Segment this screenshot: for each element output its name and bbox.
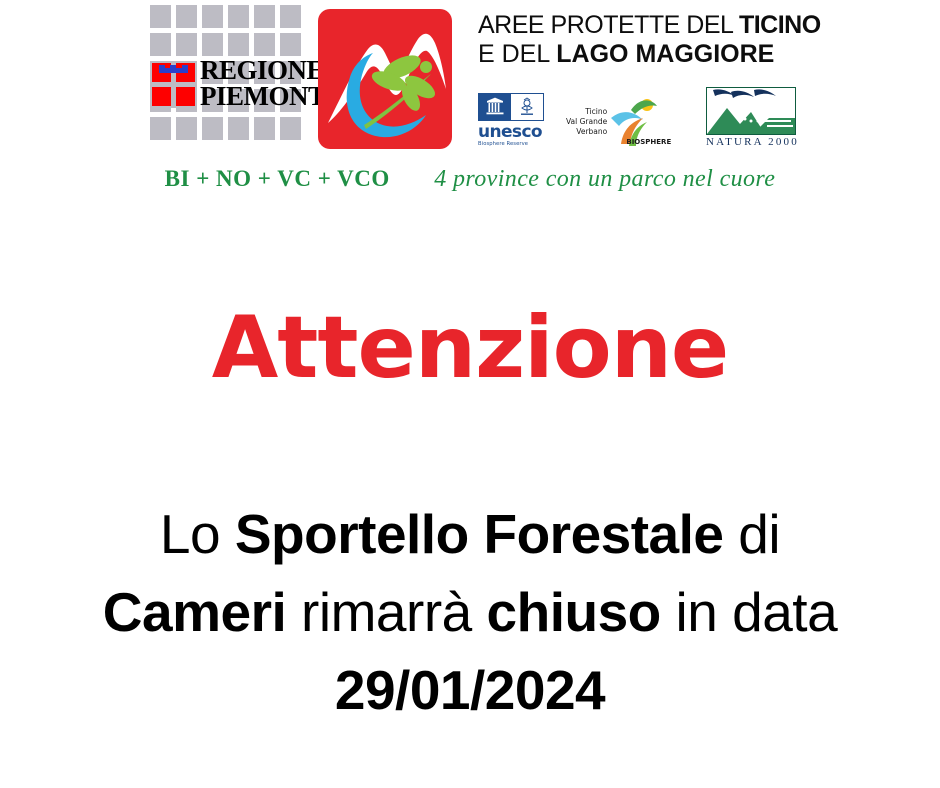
unesco-subtitle: Biosphere Reserve	[478, 141, 546, 148]
unesco-emblem-boxes	[478, 93, 544, 121]
certification-logos: unesco Biosphere Reserve Ticino Val Gran…	[478, 87, 821, 148]
biosphere-region-names: Ticino Val Grande Verbano	[566, 107, 607, 137]
aree-protette-title-line-1: AREE PROTETTE DEL TICINO	[478, 11, 821, 40]
page-title-attenzione: Attenzione	[0, 300, 940, 396]
biosphere-reserve-logo: Ticino Val Grande Verbano BIOSPHERE	[566, 96, 686, 148]
notice-closure-date: 29/01/2024	[0, 651, 940, 729]
header-tagline: BI + NO + VC + VCO 4 province con un par…	[0, 166, 940, 193]
biosphere-name-line-1: Ticino	[566, 107, 607, 117]
unesco-wordmark: unesco	[478, 123, 546, 141]
notice-body: Lo Sportello Forestale di Cameri rimarrà…	[0, 495, 940, 729]
aree-protette-park-icon	[310, 5, 460, 157]
unesco-temple-icon	[479, 94, 511, 120]
unesco-seal-icon	[511, 94, 543, 120]
header-logos: REGIONE PIEMONTE	[0, 0, 940, 205]
biosphere-name-line-3: Verbano	[566, 127, 607, 137]
biosphere-label: BIOSPHERE	[626, 138, 671, 146]
crown-icon	[159, 65, 188, 76]
aree-protette-title-line-2: E DEL LAGO MAGGIORE	[478, 40, 821, 69]
natura-2000-emblem	[706, 87, 796, 135]
provinces-label: BI + NO + VC + VCO	[165, 166, 390, 191]
regione-piemonte-logo: REGIONE PIEMONTE	[150, 5, 310, 155]
motto-label: 4 province con un parco nel cuore	[434, 166, 775, 192]
biosphere-swoosh-icon: BIOSPHERE	[609, 96, 665, 148]
logo-row: REGIONE PIEMONTE	[150, 5, 821, 157]
notice-line-2: Cameri rimarrà chiuso in data	[0, 573, 940, 651]
notice-line-1: Lo Sportello Forestale di	[0, 495, 940, 573]
biosphere-name-line-2: Val Grande	[566, 117, 607, 127]
unesco-logo: unesco Biosphere Reserve	[478, 93, 546, 148]
natura-2000-logo: NATURA 2000	[706, 87, 798, 148]
piemonte-cross-emblem	[150, 61, 197, 108]
title-and-certification-logos: AREE PROTETTE DEL TICINO E DEL LAGO MAGG…	[478, 5, 821, 148]
natura-2000-label: NATURA 2000	[706, 136, 798, 148]
